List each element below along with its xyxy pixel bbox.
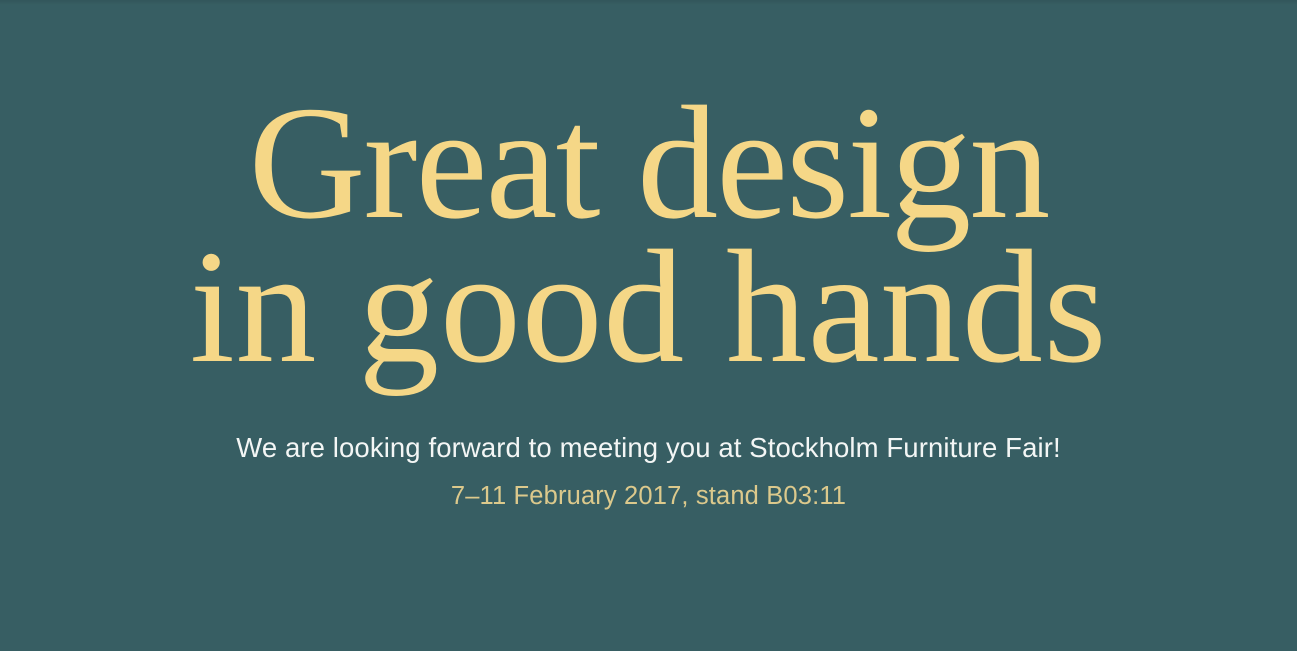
event-details: 7–11 February 2017, stand B03:11: [451, 481, 846, 511]
headline-line-1: Great design: [190, 92, 1107, 236]
banner-content: Great design in good hands We are lookin…: [0, 0, 1297, 651]
promo-banner: Great design in good hands We are lookin…: [0, 0, 1297, 651]
headline-line-2: in good hands: [190, 236, 1107, 380]
subtitle: We are looking forward to meeting you at…: [236, 432, 1060, 464]
page-title: Great design in good hands: [190, 0, 1107, 380]
